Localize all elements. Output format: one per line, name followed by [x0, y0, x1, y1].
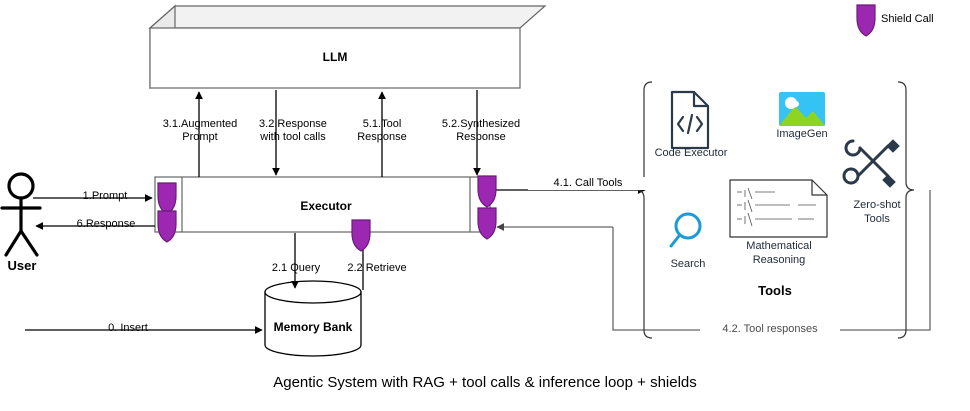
tool-caption-code-executor: Code Executor: [645, 147, 737, 160]
tools-left-bracket: [636, 82, 652, 338]
edge-label-retrieve: 2.2 Retrieve: [332, 262, 422, 275]
user-label: User: [0, 258, 44, 273]
llm-label: LLM: [150, 50, 520, 64]
shield-icon-left-bottom: [158, 211, 176, 242]
shield-icon-right-bottom: [478, 208, 496, 239]
edge-label-tool-responses: 4.2. Tool responses: [700, 323, 840, 336]
executor-label: Executor: [182, 199, 470, 213]
edge-label-synthesized-response: 5.2.Synthesized Response: [419, 118, 543, 144]
tool-caption-search: Search: [658, 258, 718, 271]
formula-document-icon: [730, 180, 827, 237]
edge-label-response: 6.Response: [52, 218, 160, 231]
edge-label-query: 2.1 Query: [258, 262, 334, 275]
tool-caption-zero-shot-tools: Zero-shot Tools: [845, 198, 909, 226]
legend-shield-label: Shield Call: [881, 13, 967, 26]
edge-label-call-tools: 4.1. Call Tools: [528, 177, 648, 190]
memory-bank-label: Memory Bank: [265, 320, 361, 334]
memory-bank-node[interactable]: [265, 281, 361, 356]
llm-node[interactable]: [150, 6, 545, 88]
code-document-icon: [672, 92, 708, 148]
edge-label-insert: 0. Insert: [68, 322, 188, 335]
shield-icon-legend: [857, 5, 875, 36]
tool-caption-imagegen: ImageGen: [767, 128, 837, 141]
user-node[interactable]: [2, 174, 40, 255]
shield-icon-memory: [352, 220, 370, 251]
tools-group-label: Tools: [720, 283, 830, 298]
image-picture-icon: [779, 92, 825, 126]
diagram-caption: Agentic System with RAG + tool calls & i…: [0, 374, 970, 391]
magnifier-icon: [671, 214, 700, 246]
tool-caption-mathematical-reasoning: Mathematical Reasoning: [738, 239, 820, 267]
edge-label-prompt: 1.Prompt: [55, 190, 155, 203]
wrench-screwdriver-icon: [844, 141, 898, 186]
